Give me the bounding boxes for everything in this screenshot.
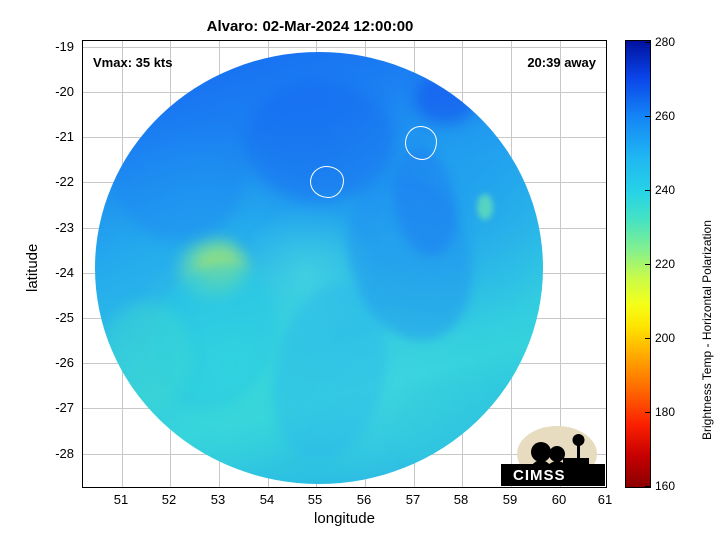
colorbar-tickmark: [645, 486, 650, 487]
brightness-temperature-swath: [95, 52, 543, 484]
colorbar-tickmark: [645, 338, 650, 339]
chart-title: Alvaro: 02-Mar-2024 12:00:00: [0, 18, 620, 35]
ytick-label: -21: [34, 129, 74, 144]
figure-root: Alvaro: 02-Mar-2024 12:00:00: [0, 0, 720, 540]
xtick-label: 56: [344, 492, 384, 507]
xtick-label: 51: [101, 492, 141, 507]
xtick-label: 57: [393, 492, 433, 507]
contour-east: [405, 126, 437, 160]
xtick-label: 54: [247, 492, 287, 507]
xtick-label: 61: [585, 492, 625, 507]
colorbar-tick-label: 220: [655, 257, 675, 271]
warm-spot: [439, 70, 459, 86]
xtick-label: 55: [295, 492, 335, 507]
ytick-label: -23: [34, 220, 74, 235]
xtick-label: 53: [198, 492, 238, 507]
colorbar-tickmark: [645, 190, 650, 191]
contour-west: [310, 166, 344, 198]
ytick-label: -26: [34, 355, 74, 370]
ytick-label: -25: [34, 310, 74, 325]
ytick-label: -27: [34, 400, 74, 415]
cold-blob: [115, 112, 245, 242]
gridline-v: [606, 41, 607, 487]
gridline-h: [83, 47, 606, 48]
colorbar-tickmark: [645, 116, 650, 117]
cimss-logo: CIMSS: [501, 424, 605, 486]
colorbar-tickmark: [645, 264, 650, 265]
x-axis-label: longitude: [82, 510, 607, 527]
colorbar-tick-label: 280: [655, 35, 675, 49]
xtick-label: 52: [149, 492, 189, 507]
ytick-label: -22: [34, 174, 74, 189]
ytick-label: -20: [34, 84, 74, 99]
gridline-v: [560, 41, 561, 487]
xtick-label: 59: [490, 492, 530, 507]
colorbar-label: Brightness Temp - Horizontal Polarizatio…: [700, 220, 714, 440]
y-axis-label: latitude: [24, 244, 41, 292]
colorbar-tickmark: [645, 42, 650, 43]
vmax-annotation: Vmax: 35 kts: [93, 55, 173, 70]
colorbar-tick-label: 260: [655, 109, 675, 123]
plot-area: Vmax: 35 kts 20:39 away CIMSS: [82, 40, 607, 488]
xtick-label: 58: [441, 492, 481, 507]
warm-edge-blob: [395, 382, 515, 472]
xtick-label: 60: [539, 492, 579, 507]
colorbar-tick-label: 180: [655, 405, 675, 419]
warm-edge-blob: [101, 302, 191, 412]
colorbar-tickmark: [645, 412, 650, 413]
ytick-label: -19: [34, 39, 74, 54]
cimss-logo-text: CIMSS: [513, 467, 566, 484]
warm-spot: [477, 194, 493, 220]
colorbar-tick-label: 200: [655, 331, 675, 345]
colorbar-tick-label: 240: [655, 183, 675, 197]
ytick-label: -28: [34, 446, 74, 461]
colorbar-tick-label: 160: [655, 479, 675, 493]
time-away-annotation: 20:39 away: [527, 55, 596, 70]
